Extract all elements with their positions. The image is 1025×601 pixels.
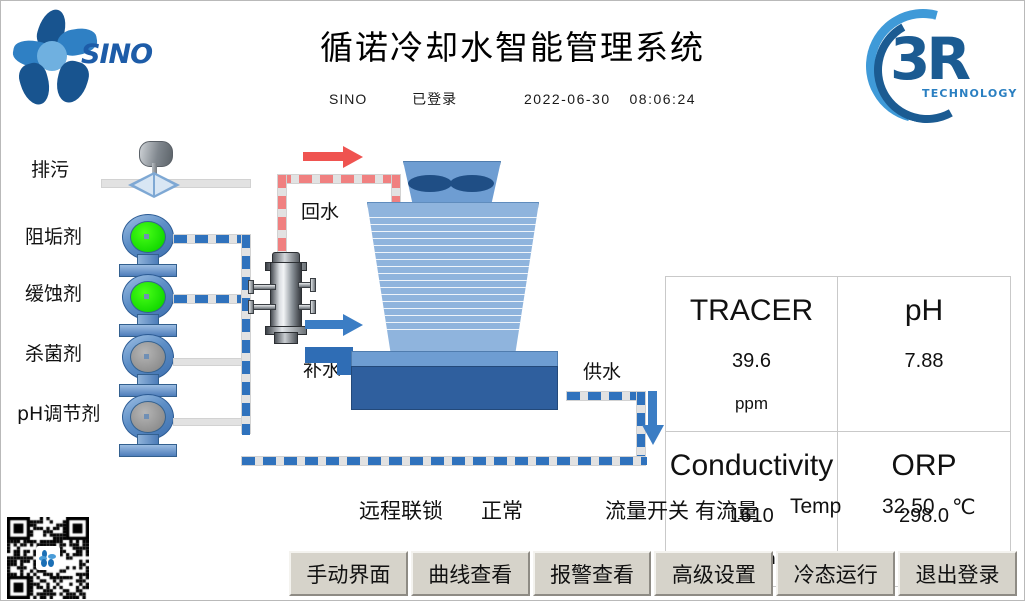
fan-blade-right: [450, 175, 494, 192]
flow-dash: [242, 457, 647, 465]
trend-curve-button[interactable]: 曲线查看: [411, 551, 530, 596]
measure-name: pH: [838, 294, 1010, 328]
dosing-pump-ph-adjuster[interactable]: [119, 394, 175, 456]
dosing-pump-corrosion-inhibitor[interactable]: [119, 274, 175, 336]
tower-fill-body: [367, 202, 539, 356]
pump-base: [119, 444, 177, 457]
blowdown-label: 排污: [31, 155, 69, 182]
current-user: SINO: [329, 91, 367, 107]
cooling-tower[interactable]: [341, 161, 571, 411]
return-loop-bottom-pipe: [241, 456, 646, 466]
hmi-screen: SINO 循诺冷却水智能管理系统 SINO 已登录 2022-06-30 08:…: [0, 0, 1025, 601]
blowdown-valve-icon[interactable]: [123, 141, 185, 197]
flow-switch-value: 有流量: [695, 495, 758, 525]
vessel-shell: [270, 262, 302, 334]
return-water-label: 回水: [301, 197, 339, 224]
pump-label-biocide: 杀菌剂: [25, 339, 82, 366]
chemical-trunk-line: [241, 234, 251, 434]
manual-interface-button[interactable]: 手动界面: [289, 551, 408, 596]
measure-name: TRACER: [666, 294, 837, 328]
remote-interlock-value: 正常: [481, 495, 523, 525]
pump-label-ph-adjuster: pH调节剂: [17, 399, 100, 426]
sensor-vessel[interactable]: [260, 252, 310, 346]
alarm-view-button[interactable]: 报警查看: [533, 551, 652, 596]
measure-name: Conductivity: [666, 449, 837, 483]
dosing-line-biocide: [173, 358, 243, 366]
vessel-nozzle-cap: [310, 278, 316, 292]
arrow-shaft: [305, 320, 343, 329]
temp-value: 32.50: [882, 495, 935, 519]
pump-center-dot: [144, 354, 149, 359]
measure-name: ORP: [838, 449, 1010, 483]
bottom-button-bar: 手动界面 曲线查看 报警查看 高级设置 冷态运行 退出登录: [289, 551, 1017, 596]
measurement-panel: TRACER 39.6 ppm pH 7.88 Conductivity 161…: [665, 276, 1011, 587]
dosing-pump-biocide[interactable]: [119, 334, 175, 396]
process-diagram: 排污 阻垢剂 缓蚀剂 杀菌剂 pH调节剂: [1, 119, 1024, 484]
logout-button[interactable]: 退出登录: [898, 551, 1017, 596]
system-date: 2022-06-30: [524, 91, 611, 107]
status-row: 远程联锁 正常 流量开关 有流量 Temp 32.50 ℃: [1, 495, 1024, 529]
qr-center-logo: [36, 546, 60, 570]
3r-subtitle: TECHNOLOGY: [922, 87, 1018, 100]
dosing-line-ph-adjuster: [173, 418, 243, 426]
supply-water-label: 供水: [583, 357, 621, 384]
3r-mark: 3R: [890, 25, 967, 93]
fan-blade-left: [408, 175, 452, 192]
arrow-shaft: [648, 391, 657, 427]
pump-center-dot: [144, 414, 149, 419]
pump-label-scale-inhibitor: 阻垢剂: [25, 222, 82, 249]
vessel-bottom-cap: [274, 332, 298, 344]
dosing-line-corrosion-inhibitor: [173, 294, 247, 304]
measure-value: 7.88: [838, 350, 1010, 373]
3r-technology-logo: 3R TECHNOLOGY: [864, 3, 1014, 115]
fan-housing: [403, 161, 501, 205]
valve-right-inner: [155, 175, 174, 195]
pump-center-dot: [144, 234, 149, 239]
temp-label: Temp: [790, 495, 841, 519]
header-bar: SINO 循诺冷却水智能管理系统 SINO 已登录 2022-06-30 08:…: [1, 1, 1024, 119]
supply-water-pipe-h: [566, 391, 646, 401]
valve-left-inner: [134, 175, 153, 195]
dosing-pump-scale-inhibitor[interactable]: [119, 214, 175, 276]
temp-unit: ℃: [952, 495, 976, 519]
arrow-head: [642, 425, 664, 445]
system-time: 08:06:24: [630, 91, 697, 107]
flow-dash: [242, 235, 250, 435]
dosing-line-scale-inhibitor: [173, 234, 247, 244]
flow-dash: [567, 392, 647, 400]
vessel-nozzle-cap: [248, 300, 254, 314]
remote-interlock-label: 远程联锁: [359, 495, 443, 525]
measure-cell-tracer[interactable]: TRACER 39.6 ppm: [666, 277, 838, 432]
measure-cell-ph[interactable]: pH 7.88: [838, 277, 1010, 432]
flow-dash: [174, 295, 248, 303]
measure-value: 39.6: [666, 350, 837, 373]
pump-center-dot: [144, 294, 149, 299]
flow-switch-label: 流量开关: [605, 495, 689, 525]
measure-unit: ppm: [666, 394, 837, 414]
pump-label-corrosion-inhibitor: 缓蚀剂: [25, 279, 82, 306]
cold-run-button[interactable]: 冷态运行: [776, 551, 895, 596]
flow-dash: [174, 235, 248, 243]
tower-basin: [351, 366, 558, 410]
return-water-down-pipe: [277, 174, 287, 264]
qr-code[interactable]: [7, 517, 89, 599]
arrow-shaft: [303, 152, 343, 161]
advanced-settings-button[interactable]: 高级设置: [654, 551, 773, 596]
login-state: 已登录: [412, 89, 457, 109]
vessel-nozzle-cap: [310, 300, 316, 314]
vessel-nozzle-cap: [248, 280, 254, 294]
